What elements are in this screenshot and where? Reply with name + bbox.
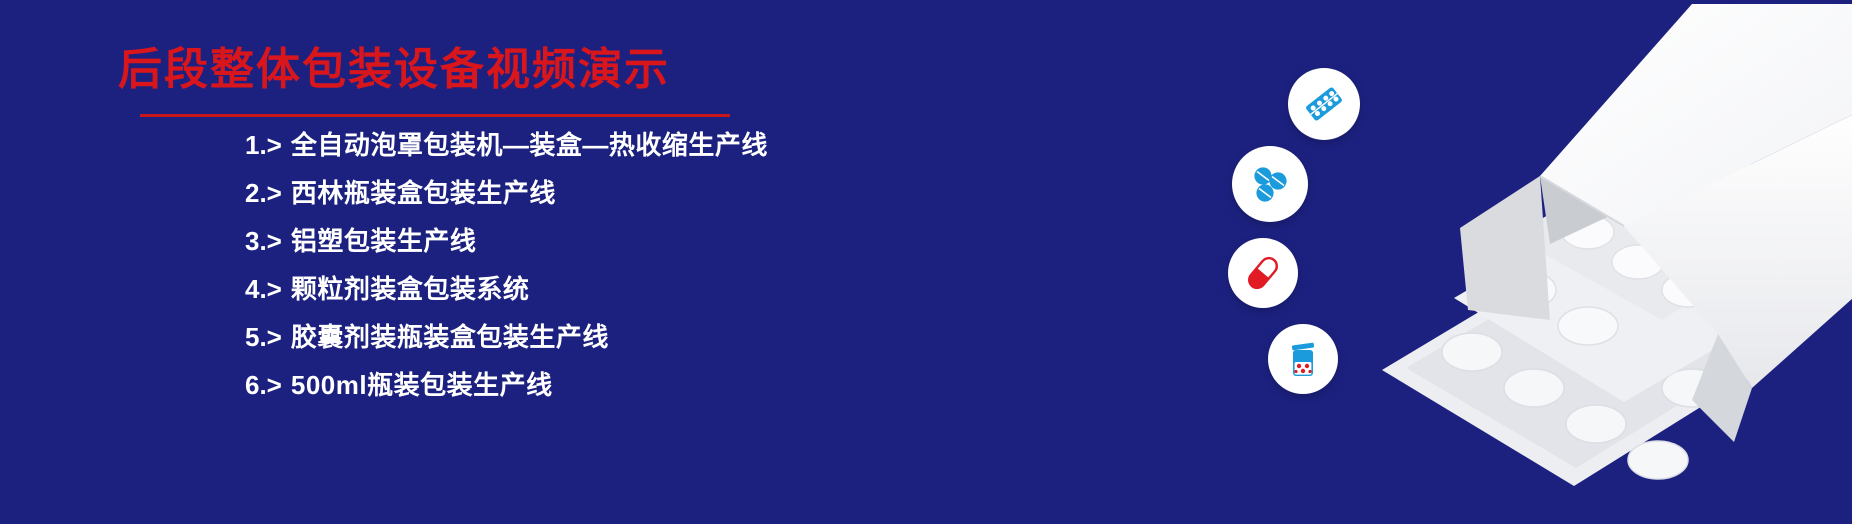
title-underline <box>140 114 730 117</box>
list-item-label: 500ml瓶装包装生产线 <box>291 372 553 398</box>
list-item-marker: 4.> <box>245 276 282 302</box>
list-item-marker: 2.> <box>245 180 282 206</box>
pill-bottle-icon-bubble <box>1268 324 1338 394</box>
list-item[interactable]: 1.> 全自动泡罩包装机—装盒—热收缩生产线 <box>245 132 768 180</box>
blister-pack-icon-bubble <box>1288 68 1360 140</box>
tablets-icon-bubble <box>1232 146 1308 222</box>
list-item[interactable]: 3.> 铝塑包装生产线 <box>245 228 768 276</box>
list-item-marker: 6.> <box>245 372 282 398</box>
list-item-label: 胶囊剂装瓶装盒包装生产线 <box>291 324 609 350</box>
promo-banner: 后段整体包装设备视频演示 1.> 全自动泡罩包装机—装盒—热收缩生产线 2.> … <box>0 0 1852 524</box>
list-item-marker: 3.> <box>245 228 282 254</box>
blister-pack-carton-illustration <box>1362 0 1852 524</box>
list-item[interactable]: 6.> 500ml瓶装包装生产线 <box>245 372 768 420</box>
list-item-label: 西林瓶装盒包装生产线 <box>291 180 556 206</box>
list-item-label: 颗粒剂装盒包装系统 <box>291 276 530 302</box>
capsule-icon <box>1241 251 1285 295</box>
text-block: 后段整体包装设备视频演示 1.> 全自动泡罩包装机—装盒—热收缩生产线 2.> … <box>0 0 1000 524</box>
list-item-marker: 5.> <box>245 324 282 350</box>
capsule-icon-bubble <box>1228 238 1298 308</box>
list-item-label: 全自动泡罩包装机—装盒—热收缩生产线 <box>291 132 768 158</box>
list-item[interactable]: 4.> 颗粒剂装盒包装系统 <box>245 276 768 324</box>
video-list: 1.> 全自动泡罩包装机—装盒—热收缩生产线 2.> 西林瓶装盒包装生产线 3.… <box>245 132 768 420</box>
list-item[interactable]: 2.> 西林瓶装盒包装生产线 <box>245 180 768 228</box>
list-item-marker: 1.> <box>245 132 282 158</box>
list-item[interactable]: 5.> 胶囊剂装瓶装盒包装生产线 <box>245 324 768 372</box>
list-item-label: 铝塑包装生产线 <box>291 228 477 254</box>
blister-pack-icon <box>1301 81 1347 127</box>
page-title: 后段整体包装设备视频演示 <box>118 42 670 97</box>
pill-bottle-icon <box>1282 338 1324 380</box>
tablets-icon <box>1247 161 1293 207</box>
